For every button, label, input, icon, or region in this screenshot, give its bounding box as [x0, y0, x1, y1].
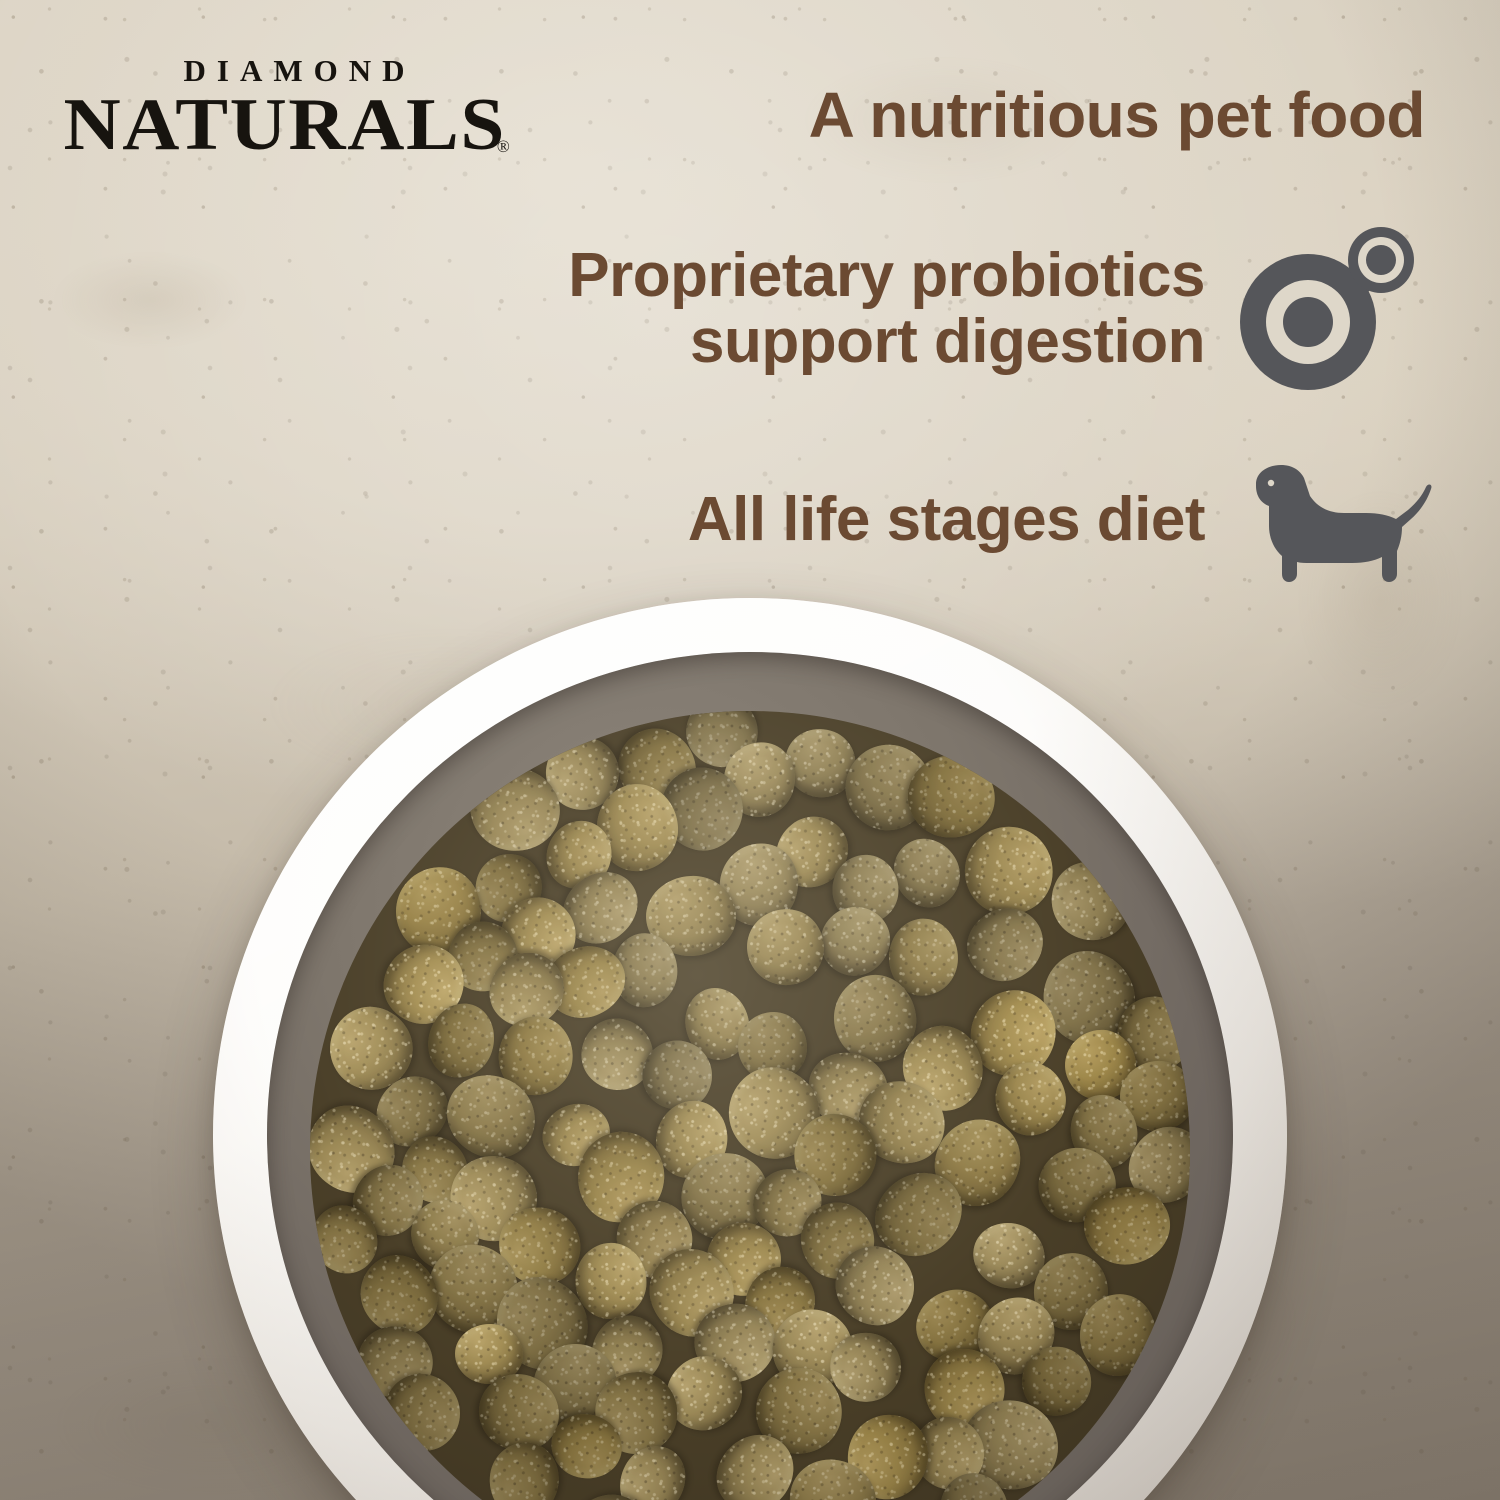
brand-logo-naturals-row: NATURALS ®: [84, 88, 504, 162]
kibble-piece: [575, 1243, 647, 1319]
brand-logo-diamond: DIAMOND: [84, 55, 504, 86]
brand-logo-naturals: NATURALS: [64, 88, 507, 162]
kibble-piece: [954, 895, 1056, 995]
probiotics-claim: Proprietary probiotics support digestion: [300, 243, 1205, 374]
dachshund-silhouette-icon: [1248, 456, 1433, 588]
probiotics-claim-line2: support digestion: [300, 309, 1205, 375]
kibble-piece: [882, 826, 973, 919]
probiotic-cells-icon: [1238, 218, 1418, 390]
probiotics-claim-line1: Proprietary probiotics: [300, 243, 1205, 309]
headline-claim: A nutritious pet food: [520, 82, 1425, 150]
brand-logo: DIAMOND NATURALS ®: [84, 55, 504, 162]
product-feature-panel: DIAMOND NATURALS ® A nutritious pet food…: [0, 0, 1500, 1500]
life-stages-claim: All life stages diet: [300, 487, 1205, 553]
